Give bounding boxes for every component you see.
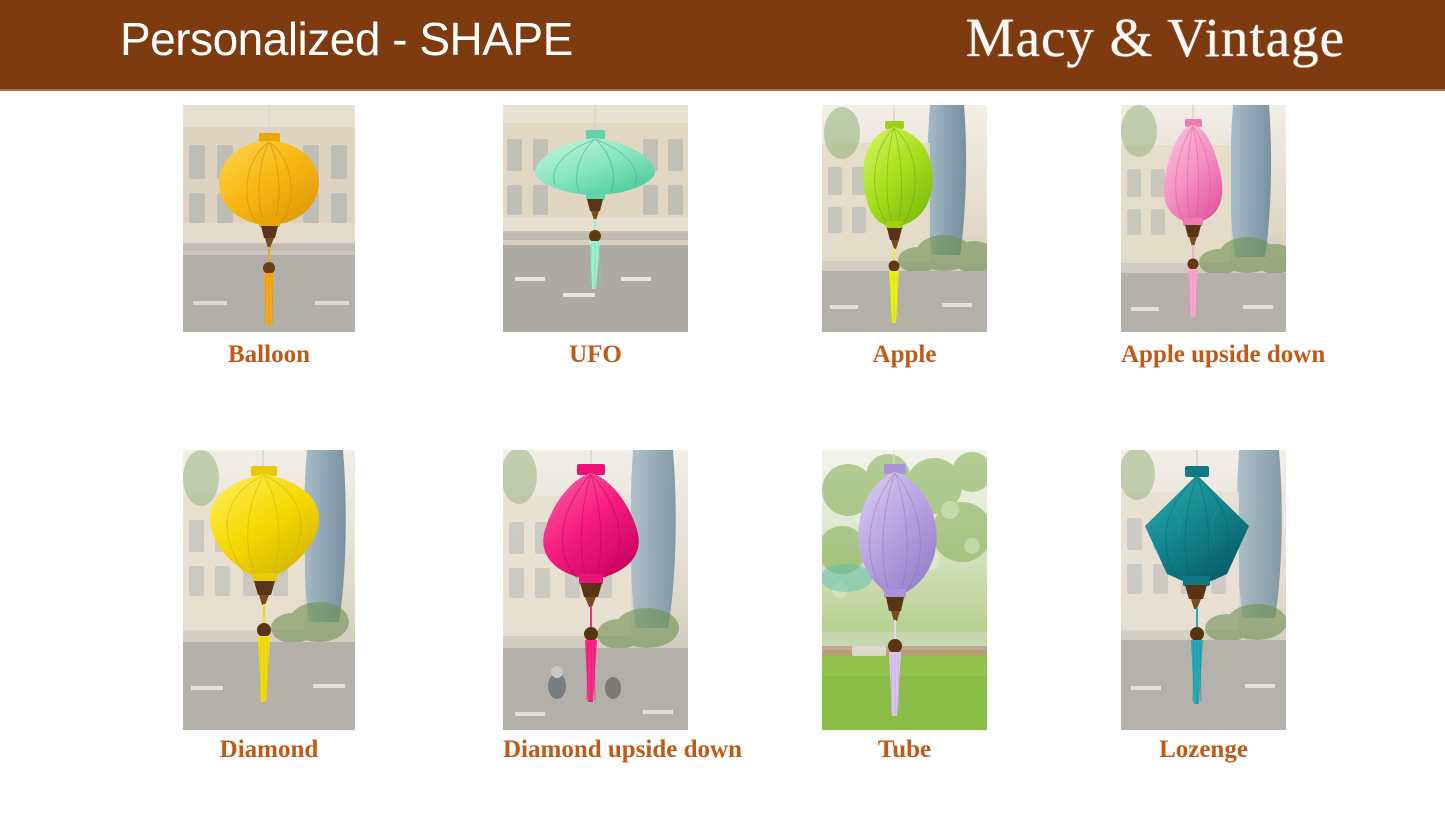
lantern-photo-apple-upside-down — [1121, 105, 1286, 332]
tube-lantern-illustration — [822, 450, 987, 730]
shape-gallery: Balloon — [0, 89, 1445, 813]
apple-upside-down-lantern-illustration — [1121, 105, 1286, 332]
brand-logo-text: Macy & Vintage — [966, 6, 1345, 69]
shape-label-apple: Apple — [822, 341, 987, 369]
shape-label-tube: Tube — [822, 736, 987, 764]
shape-label-lozenge: Lozenge — [1121, 736, 1286, 764]
lantern-photo-diamond-upside-down — [503, 450, 688, 730]
gallery-row-1: Balloon — [0, 105, 1445, 395]
shape-label-ufo: UFO — [503, 341, 688, 369]
shape-label-diamond: Diamond — [183, 736, 355, 764]
shape-label-diamond-upside-down: Diamond upside down — [503, 736, 688, 764]
lantern-photo-diamond — [183, 450, 355, 730]
lozenge-lantern-illustration — [1121, 450, 1286, 730]
shape-label-apple-upside-down: Apple upside down — [1121, 341, 1286, 369]
lantern-photo-lozenge — [1121, 450, 1286, 730]
slide-root: Personalized - SHAPE Macy & Vintage — [0, 0, 1445, 813]
page-title: Personalized - SHAPE — [120, 12, 573, 66]
shape-label-balloon: Balloon — [183, 341, 355, 369]
lantern-photo-balloon — [183, 105, 355, 332]
lantern-photo-ufo — [503, 105, 688, 332]
apple-lantern-illustration — [822, 105, 987, 332]
lantern-photo-apple — [822, 105, 987, 332]
ufo-lantern-illustration — [503, 105, 688, 332]
lantern-photo-tube — [822, 450, 987, 730]
diamond-upside-down-lantern-illustration — [503, 450, 688, 730]
gallery-row-2: Diamond — [0, 450, 1445, 770]
balloon-lantern-illustration — [183, 105, 355, 332]
diamond-lantern-illustration — [183, 450, 355, 730]
header-band: Personalized - SHAPE Macy & Vintage — [0, 0, 1445, 89]
